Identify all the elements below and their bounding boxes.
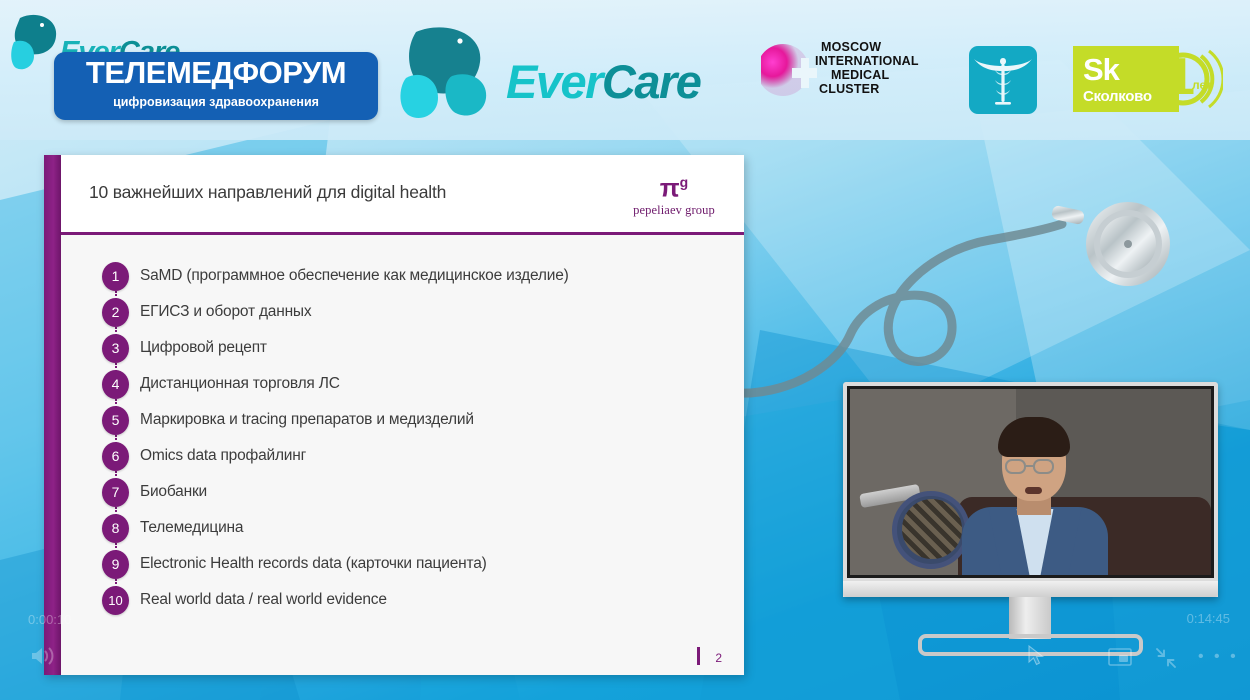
mimc-line-3: MEDICAL [815, 68, 919, 82]
slide-header: 10 важнейших направлений для digital hea… [61, 155, 744, 232]
skolkovo-anniversary-number: 1 [1166, 51, 1195, 103]
slide-body: 1SaMD (программное обеспечение как медиц… [61, 235, 744, 675]
list-item-label: Real world data / real world evidence [140, 591, 387, 609]
mimc-logo: MOSCOW INTERNATIONAL MEDICAL CLUSTER [763, 36, 943, 106]
list-item-number: 10 [102, 586, 129, 615]
cursor-arrow-icon [1028, 645, 1046, 667]
list-item: 1SaMD (программное обеспечение как медиц… [101, 261, 701, 297]
skolkovo-logo: Sk Сколково 1 лет [1073, 46, 1223, 112]
slide-page-number: 2 [715, 651, 722, 665]
list-item-label: Цифровой рецепт [140, 339, 267, 357]
more-options-icon[interactable]: • • • [1198, 652, 1239, 662]
picture-in-picture-icon[interactable] [1108, 648, 1132, 671]
speaker-glasses-right [1033, 459, 1054, 474]
speaker-mouth [1025, 487, 1042, 494]
speaker-glasses-bridge [1026, 465, 1034, 467]
list-item-label: Electronic Health records data (карточки… [140, 555, 487, 573]
evercare-logo: EverCare [398, 24, 710, 124]
telemedforum-badge: ТЕЛЕМЕДФОРУМ цифровизация здравоохранени… [54, 52, 378, 120]
speaker-glasses-left [1005, 459, 1026, 474]
list-item-number: 3 [102, 334, 129, 363]
evercare-care-text: Care [602, 55, 701, 108]
pepeliaev-group-logo: πg pepeliaev group [626, 167, 722, 223]
list-item: 7Биобанки [101, 477, 701, 513]
list-item-label: SaMD (программное обеспечение как медици… [140, 267, 569, 285]
exit-fullscreen-icon[interactable] [1154, 646, 1178, 675]
list-item-number: 7 [102, 478, 129, 507]
list-item: 10Real world data / real world evidence [101, 585, 701, 621]
monitor-stand-neck [1009, 597, 1051, 639]
mimc-wordmark: MOSCOW INTERNATIONAL MEDICAL CLUSTER [815, 40, 919, 96]
list-item: 3Цифровой рецепт [101, 333, 701, 369]
skolkovo-anniversary-label: лет [1192, 78, 1212, 92]
list-item-number: 9 [102, 550, 129, 579]
caduceus-logo-tile [969, 46, 1037, 114]
list-item: 8Телемедицина [101, 513, 701, 549]
list-item-label: Биобанки [140, 483, 207, 501]
pepeliaev-group-name: pepeliaev group [626, 203, 722, 218]
slide-page-accent [697, 647, 700, 665]
list-item-number: 1 [102, 262, 129, 291]
pepeliaev-superscript: g [680, 174, 689, 190]
volume-icon-glyph [30, 645, 56, 667]
microphone-grill [902, 499, 962, 559]
list-item-label: Маркировка и tracing препаратов и медизд… [140, 411, 474, 429]
caduceus-icon [969, 46, 1037, 114]
pip-icon-glyph [1108, 648, 1132, 666]
slide-left-accent-bar [44, 155, 61, 675]
list-item-label: Телемедицина [140, 519, 243, 537]
telemedforum-logo: EverCare ТЕЛЕМЕДФОРУМ цифровизация здрав… [8, 8, 380, 128]
webcam-video-feed[interactable] [847, 386, 1214, 578]
skolkovo-sk-text: Sk [1083, 52, 1119, 88]
pepeliaev-pi-icon: πg [626, 167, 722, 203]
monitor-frame [843, 382, 1218, 597]
monitor-chin [843, 581, 1218, 597]
presentation-slide[interactable]: 10 важнейших направлений для digital hea… [44, 155, 744, 675]
list-item-label: Omics data профайлинг [140, 447, 306, 465]
mimc-mark-icon [761, 36, 817, 106]
mimc-line-1: MOSCOW [815, 40, 919, 54]
evercare-birds-icon [398, 24, 510, 124]
mimc-line-4: CLUSTER [815, 82, 919, 96]
list-item-label: Дистанционная торговля ЛС [140, 375, 340, 393]
list-item: 6Omics data профайлинг [101, 441, 701, 477]
list-item-number: 5 [102, 406, 129, 435]
telemedforum-title: ТЕЛЕМЕДФОРУМ [54, 55, 378, 91]
list-item-number: 8 [102, 514, 129, 543]
telemedforum-subtitle: цифровизация здравоохранения [54, 95, 378, 109]
video-monitor[interactable] [843, 382, 1218, 622]
list-item-number: 6 [102, 442, 129, 471]
stethoscope-graphic [700, 120, 1200, 420]
list-item-number: 4 [102, 370, 129, 399]
player-current-time: 0:00:10 [28, 612, 71, 627]
volume-icon[interactable] [30, 645, 56, 672]
player-total-time: 0:14:45 [1187, 611, 1230, 626]
digital-health-list: 1SaMD (программное обеспечение как медиц… [101, 261, 701, 621]
mouse-cursor [1028, 645, 1046, 672]
list-item: 4Дистанционная торговля ЛС [101, 369, 701, 405]
list-item: 2ЕГИСЗ и оборот данных [101, 297, 701, 333]
list-item: 5Маркировка и tracing препаратов и медиз… [101, 405, 701, 441]
slide-title: 10 важнейших направлений для digital hea… [89, 182, 446, 203]
evercare-ever-text: Ever [506, 55, 602, 108]
evercare-wordmark: EverCare [506, 54, 700, 109]
skolkovo-word-text: Сколково [1083, 88, 1152, 105]
list-item-label: ЕГИСЗ и оборот данных [140, 303, 311, 321]
exit-fullscreen-icon-glyph [1154, 646, 1178, 670]
header-bar: EverCare ТЕЛЕМЕДФОРУМ цифровизация здрав… [0, 0, 1250, 140]
mimc-line-2: INTERNATIONAL [815, 54, 919, 68]
list-item-number: 2 [102, 298, 129, 327]
list-item: 9Electronic Health records data (карточк… [101, 549, 701, 585]
